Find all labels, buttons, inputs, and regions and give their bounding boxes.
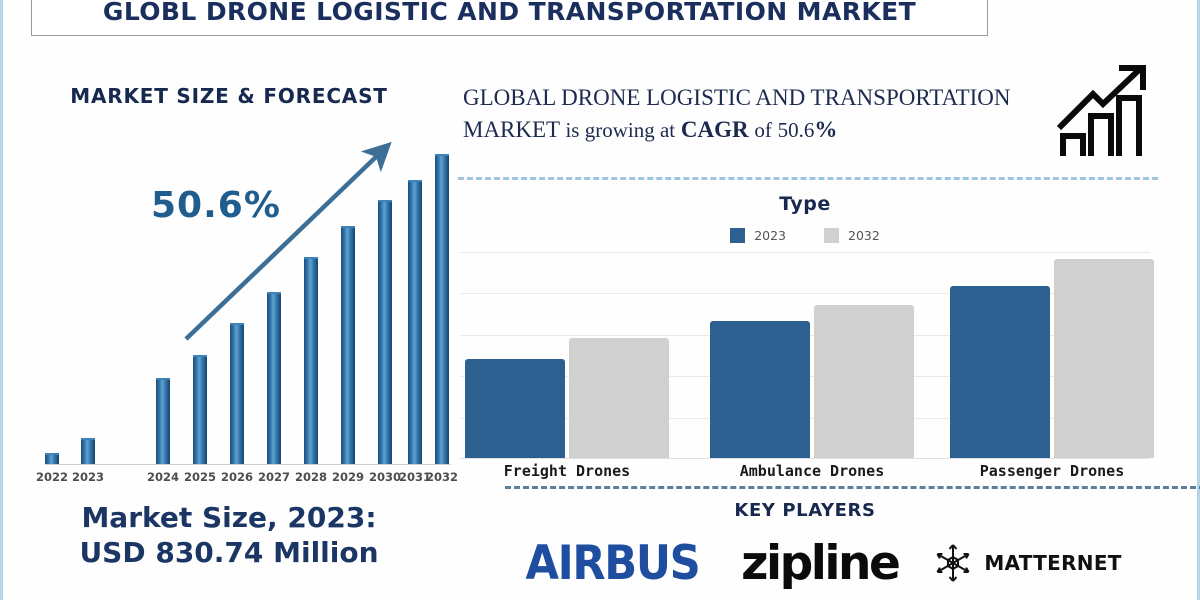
matternet-snowflake-icon (932, 542, 974, 584)
market-size-footer: Market Size, 2023: USD 830.74 Million (3, 500, 455, 570)
type-chart-title: Type (455, 193, 1155, 215)
growth-and-type-panel: GLOBAL DRONE LOGISTIC AND TRANSPORTATION… (455, 60, 1200, 600)
forecast-year-labels: 2022202320242025202620272028202920302031… (23, 470, 453, 490)
growth-of-word: of (754, 118, 772, 142)
forecast-bar (156, 378, 170, 464)
type-bar (710, 321, 810, 458)
forecast-bar (435, 154, 449, 464)
forecast-year-label: 2027 (257, 470, 291, 484)
forecast-bar (230, 323, 244, 464)
type-bar (465, 359, 565, 458)
forecast-year-label: 2023 (71, 470, 105, 484)
growth-connector: is growing at (565, 118, 675, 142)
forecast-bar (408, 180, 422, 464)
type-category-label: Passenger Drones (945, 462, 1159, 480)
market-size-forecast-panel: MARKET SIZE & FORECAST 50.6% 20222023202… (3, 60, 455, 600)
type-category-label: Freight Drones (460, 462, 674, 480)
key-players-logos: AIRBUSziplineMATTERNET (475, 528, 1165, 598)
forecast-bar (341, 226, 355, 464)
legend-item[interactable]: 2023 (730, 228, 786, 243)
type-chart-legend: 20232032 (455, 228, 1155, 243)
legend-label: 2032 (848, 228, 880, 243)
forecast-bar (304, 257, 318, 464)
forecast-bar (267, 292, 281, 464)
logo-matternet: MATTERNET (932, 542, 1121, 584)
forecast-year-label: 2029 (331, 470, 365, 484)
forecast-bar (193, 355, 207, 464)
type-category-label: Ambulance Drones (705, 462, 919, 480)
forecast-year-label: 2028 (294, 470, 328, 484)
divider-top (458, 177, 1158, 180)
forecast-year-label: 2025 (183, 470, 217, 484)
forecast-chart-axis (45, 464, 451, 465)
title-box: GLOBL DRONE LOGISTIC AND TRANSPORTATION … (31, 0, 988, 36)
forecast-year-label: 2024 (146, 470, 180, 484)
gridline (460, 252, 1150, 253)
forecast-year-label: 2030 (368, 470, 402, 484)
legend-swatch-icon (824, 228, 839, 243)
growth-cagr-value: 50.6 (778, 118, 815, 142)
market-size-forecast-heading: MARKET SIZE & FORECAST (3, 84, 455, 108)
forecast-bar (378, 200, 392, 464)
market-size-footer-line2: USD 830.74 Million (3, 535, 455, 570)
logo-airbus: AIRBUS (526, 536, 700, 591)
logo-matternet-text: MATTERNET (984, 551, 1121, 575)
forecast-year-label: 2022 (35, 470, 69, 484)
page-title: GLOBL DRONE LOGISTIC AND TRANSPORTATION … (103, 0, 916, 26)
growth-statement: GLOBAL DRONE LOGISTIC AND TRANSPORTATION… (463, 82, 1033, 145)
growth-cagr-word: CAGR (681, 117, 749, 142)
infographic-page: GLOBL DRONE LOGISTIC AND TRANSPORTATION … (0, 0, 1200, 600)
legend-item[interactable]: 2032 (824, 228, 880, 243)
forecast-bar (45, 453, 59, 464)
type-chart-category-labels: Freight DronesAmbulance DronesPassenger … (460, 462, 1150, 486)
type-bar (569, 338, 669, 458)
growth-chart-icon (1053, 60, 1163, 160)
type-chart-baseline (460, 458, 1150, 459)
legend-label: 2023 (754, 228, 786, 243)
forecast-year-label: 2032 (425, 470, 459, 484)
type-bar (1054, 259, 1154, 458)
forecast-year-label: 2026 (220, 470, 254, 484)
legend-swatch-icon (730, 228, 745, 243)
type-bar (814, 305, 914, 458)
market-size-footer-line1: Market Size, 2023: (3, 500, 455, 535)
divider-bottom (505, 486, 1200, 489)
logo-zipline: zipline (741, 536, 898, 591)
type-chart (460, 252, 1150, 459)
forecast-cagr-annotation: 50.6% (151, 185, 281, 226)
growth-percent-sign: % (814, 117, 837, 142)
type-bar (950, 286, 1050, 458)
forecast-bar (81, 438, 95, 464)
key-players-title: KEY PLAYERS (455, 500, 1155, 521)
